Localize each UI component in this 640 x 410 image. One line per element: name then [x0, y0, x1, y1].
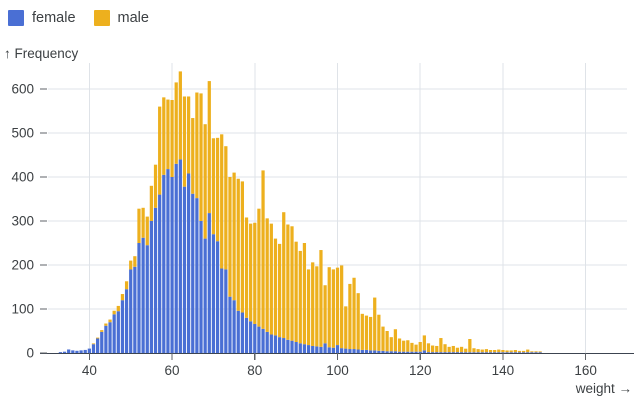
bar-male [390, 337, 393, 351]
bar-male [477, 349, 480, 352]
bar-male [323, 285, 326, 343]
bar-female [129, 269, 132, 353]
bar-male [257, 209, 260, 327]
bar-male [228, 177, 231, 297]
bar-male [419, 342, 422, 352]
y-tick-label: 300 [11, 214, 34, 229]
bar-male [125, 281, 128, 289]
bar-male [336, 268, 339, 345]
bar-male [493, 350, 496, 352]
bar-male [129, 261, 132, 270]
bar-male [539, 351, 542, 352]
bar-male [191, 118, 194, 194]
bar-female [295, 342, 298, 353]
bar-female [162, 175, 165, 353]
bar-male [456, 348, 459, 352]
bar-female [319, 347, 322, 353]
bar-male [96, 338, 99, 339]
bar-male [468, 339, 471, 352]
bar-male [307, 269, 310, 345]
bar-male [278, 244, 281, 337]
bar-male [220, 134, 223, 268]
bar-female [175, 164, 178, 353]
bar-female [67, 349, 70, 353]
x-tick-label: 120 [409, 363, 432, 378]
bar-female [381, 351, 384, 353]
bar-male [311, 262, 314, 346]
bar-female [195, 198, 198, 353]
bar-male [303, 243, 306, 344]
bar-female [357, 349, 360, 353]
bar-male [510, 350, 513, 352]
bar-male [526, 350, 529, 353]
bar-male [266, 218, 269, 332]
bar-female [328, 347, 331, 353]
x-tick-label: 80 [247, 363, 262, 378]
bar-male [121, 294, 124, 300]
bar-female [394, 351, 397, 353]
y-tick-label: 0 [26, 346, 34, 361]
bar-male [398, 338, 401, 351]
bar-male [204, 124, 207, 238]
bar-male [224, 146, 227, 269]
bar-male [394, 329, 397, 351]
bar-male [315, 266, 318, 346]
bar-female [179, 159, 182, 353]
bar-female [117, 311, 120, 353]
bar-female [96, 338, 99, 353]
bar-female [88, 349, 91, 353]
bar-female [274, 335, 277, 353]
bar-female [299, 343, 302, 353]
x-tick-label: 100 [326, 363, 349, 378]
bar-male [319, 250, 322, 347]
bar-female [282, 338, 285, 353]
bar-female [154, 208, 157, 353]
bar-female [183, 187, 186, 353]
bar-male [183, 96, 186, 186]
bar-female [199, 221, 202, 353]
bar-male [232, 173, 235, 301]
bar-male [534, 351, 537, 352]
bar-female [386, 351, 389, 353]
bar-female [344, 349, 347, 353]
bar-male [113, 311, 116, 315]
bar-male [166, 100, 169, 170]
bar-female [150, 221, 153, 353]
bar-male [357, 293, 360, 349]
x-tick-label: 140 [492, 363, 515, 378]
bar-female [104, 326, 107, 353]
x-tick-label: 60 [165, 363, 180, 378]
bar-male [410, 343, 413, 352]
bar-female [232, 300, 235, 353]
bar-female [423, 350, 426, 353]
bar-male [344, 306, 347, 348]
bar-male [212, 138, 215, 234]
bar-male [253, 223, 256, 324]
bar-male [137, 209, 140, 243]
bar-male [100, 330, 103, 332]
bar-male [481, 350, 484, 353]
bar-male [340, 265, 343, 348]
bar-male [402, 341, 405, 352]
bar-female [336, 345, 339, 353]
bar-female [323, 343, 326, 353]
bar-male [352, 278, 355, 349]
bar-male [142, 208, 145, 238]
bar-male [261, 170, 264, 328]
bar-female [340, 348, 343, 353]
bar-female [241, 313, 244, 353]
bar-male [427, 343, 430, 352]
y-tick-label: 400 [11, 170, 34, 185]
chart-root: female male ↑ Frequency weight → 0100200… [0, 0, 640, 410]
bar-female [390, 351, 393, 353]
bar-male [505, 350, 508, 352]
bar-male [423, 335, 426, 350]
bar-male [452, 346, 455, 352]
bar-female [224, 269, 227, 353]
x-tick-label: 40 [82, 363, 97, 378]
bar-female [108, 322, 111, 353]
bar-female [146, 245, 149, 353]
bar-female [158, 195, 161, 353]
bar-male [464, 349, 467, 353]
bar-male [485, 349, 488, 352]
bar-female [377, 351, 380, 353]
bar-female [71, 350, 74, 353]
bar-female [307, 345, 310, 353]
x-tick-labels: 406080100120140160 [82, 363, 597, 378]
bar-female [365, 350, 368, 353]
bar-male [154, 165, 157, 208]
bar-male [216, 138, 219, 241]
bar-female [133, 267, 136, 353]
bar-female [278, 337, 281, 353]
bar-female [216, 241, 219, 353]
bar-male [179, 71, 182, 159]
bar-female [249, 321, 252, 353]
bar-male [361, 314, 364, 350]
y-tick-label: 100 [11, 302, 34, 317]
bar-female [208, 213, 211, 353]
bar-female [204, 239, 207, 353]
bar-female [170, 177, 173, 353]
bar-female [220, 269, 223, 353]
bar-male [245, 217, 248, 317]
bar-male [150, 186, 153, 221]
bar-male [241, 181, 244, 312]
bar-male [381, 327, 384, 351]
bar-female [261, 329, 264, 353]
bar-male [162, 97, 165, 174]
bar-male [199, 93, 202, 221]
bar-female [237, 311, 240, 353]
bar-female [113, 314, 116, 353]
bar-female [100, 332, 103, 353]
bar-male [274, 239, 277, 336]
bar-male [472, 348, 475, 352]
bar-female [137, 243, 140, 353]
bar-male [448, 347, 451, 352]
bar-female [253, 324, 256, 353]
plot-area: 0100200300400500600 406080100120140160 [0, 0, 640, 410]
bar-male [117, 306, 120, 311]
bar-female [84, 350, 87, 353]
bar-male [522, 351, 525, 352]
bar-male [369, 317, 372, 350]
bar-female [361, 350, 364, 353]
bar-male [497, 350, 500, 353]
bar-female [125, 289, 128, 353]
bar-male [270, 224, 273, 335]
bar-male [518, 351, 521, 352]
bar-female [352, 349, 355, 353]
bar-male [175, 82, 178, 163]
bar-female [187, 173, 190, 353]
bar-male [187, 96, 190, 173]
y-tick-label: 200 [11, 258, 34, 273]
bar-female [92, 344, 95, 353]
bar-male [365, 316, 368, 350]
bar-female [332, 348, 335, 353]
bar-female [373, 350, 376, 353]
bar-female [315, 346, 318, 353]
bar-female [212, 234, 215, 353]
bar-male [104, 324, 107, 326]
bar-male [295, 242, 298, 342]
bar-male [282, 212, 285, 338]
bar-male [290, 226, 293, 340]
bar-female [270, 335, 273, 353]
bar-male [92, 343, 95, 344]
bar-female [75, 351, 78, 353]
bar-female [191, 194, 194, 353]
histogram-svg: 0100200300400500600 406080100120140160 [0, 0, 640, 410]
bar-male [299, 251, 302, 343]
bar-male [108, 320, 111, 323]
bar-male [377, 315, 380, 351]
bar-male [133, 256, 136, 267]
bar-female [311, 346, 314, 353]
bar-male [286, 225, 289, 340]
bar-male [530, 351, 533, 352]
bar-male [328, 267, 331, 347]
bar-female [303, 344, 306, 353]
bar-male [431, 346, 434, 353]
bar-male [208, 81, 211, 213]
bar-male [195, 93, 198, 199]
bar-male [237, 179, 240, 311]
bar-male [435, 346, 438, 352]
bar-female [286, 340, 289, 353]
bar-female [166, 169, 169, 353]
x-tick-label: 160 [574, 363, 597, 378]
bar-female [290, 341, 293, 353]
bar-female [266, 332, 269, 353]
bar-male [373, 298, 376, 351]
bar-male [414, 345, 417, 352]
y-tick-labels: 0100200300400500600 [11, 82, 34, 361]
bar-male [158, 107, 161, 195]
bar-male [443, 344, 446, 352]
bar-male [249, 224, 252, 322]
bar-male [514, 350, 517, 352]
bar-male [439, 338, 442, 352]
bar-male [489, 350, 492, 352]
bar-female [142, 238, 145, 353]
bar-male [170, 100, 173, 177]
bar-female [369, 350, 372, 353]
y-tick-label: 600 [11, 82, 34, 97]
y-tick-label: 500 [11, 126, 34, 141]
bar-male [146, 217, 149, 246]
bar-male [406, 340, 409, 351]
bar-male [386, 331, 389, 351]
bar-female [121, 300, 124, 353]
bar-female [245, 318, 248, 353]
bar-female [348, 349, 351, 353]
bar-male [332, 269, 335, 347]
bar-male [501, 350, 504, 352]
bar-male [460, 347, 463, 352]
bar-male [348, 284, 351, 349]
bar-female [228, 297, 231, 353]
bar-female [79, 350, 82, 353]
bar-female [257, 327, 260, 353]
